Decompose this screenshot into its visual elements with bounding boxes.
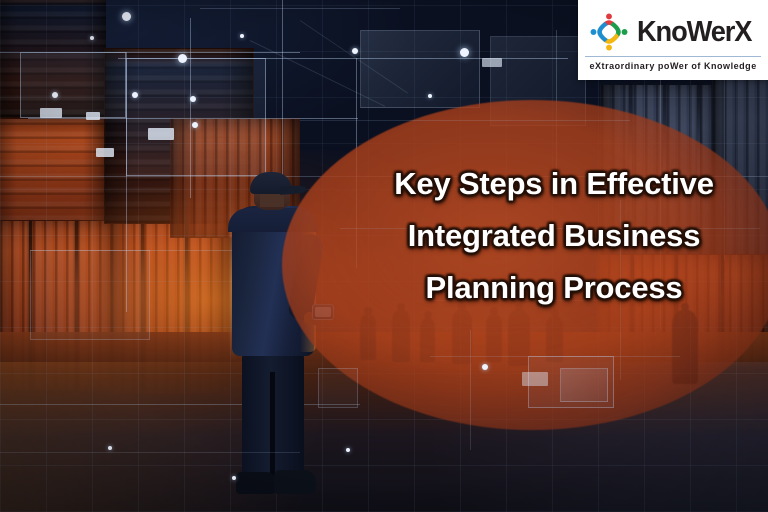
logo-divider (585, 56, 761, 57)
logo-tagline: eXtraordinary poWer of Knowledge (589, 60, 756, 71)
marketing-banner: Key Steps in Effective Integrated Busine… (0, 0, 768, 512)
headline-line-1: Key Steps in Effective (352, 158, 756, 210)
knowerx-logo-panel[interactable]: KnoWerX eXtraordinary poWer of Knowledge (578, 0, 768, 80)
headline-line-2: Integrated Business (352, 210, 756, 262)
logo-row: KnoWerX (587, 10, 759, 54)
four-people-x-logo-icon (587, 11, 631, 53)
logo-wordmark: KnoWerX (637, 18, 751, 47)
page-title: Key Steps in Effective Integrated Busine… (352, 158, 756, 314)
headline-line-3: Planning Process (352, 262, 756, 314)
